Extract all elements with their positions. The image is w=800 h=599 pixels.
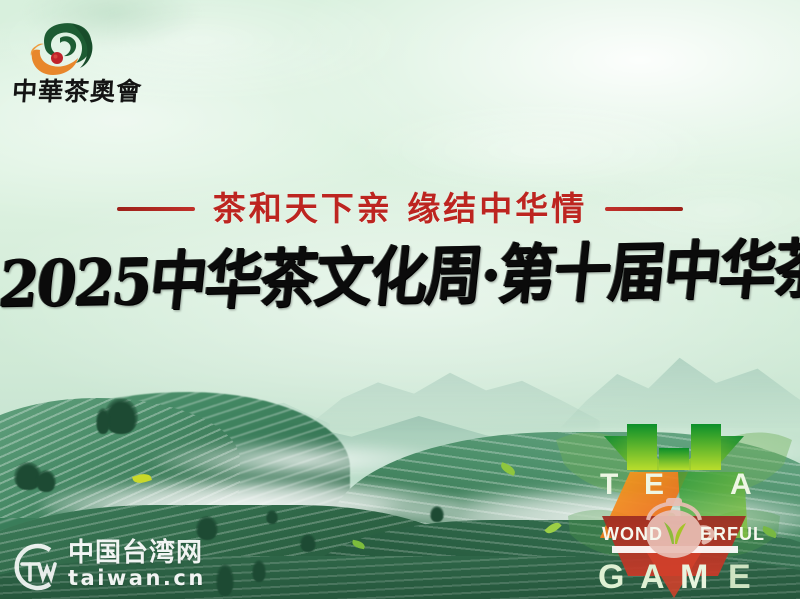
main-title: 2025中华茶文化周·第十届中华茶奥会 [0, 246, 800, 306]
event-logo-letter-t: T [600, 468, 620, 501]
event-logo-letter-e: E [644, 468, 666, 501]
event-logo-wond: WOND [602, 524, 663, 544]
tea-leaf-swirl-icon [26, 18, 104, 80]
tree-clump [300, 534, 316, 552]
tree-clump [96, 408, 110, 434]
watermark-site-name: 中国台湾网 [68, 540, 203, 566]
slogan-row: 茶和天下亲 缘结中华情 [0, 192, 800, 225]
event-logo-letter-a: A [730, 468, 754, 501]
ctw-logo-icon [8, 540, 64, 594]
event-logo: T E A WOND ERFUL G A M E [548, 398, 800, 599]
organizer-logo-label: 中華茶奧會 [11, 80, 135, 105]
tree-clump [36, 470, 56, 492]
tree-clump [266, 510, 278, 524]
main-title-text: 2025中华茶文化周·第十届中华茶奥会 [0, 233, 800, 318]
organizer-logo: 中華茶奧會 [8, 18, 138, 118]
event-logo-letter-a2: A [640, 558, 669, 596]
event-logo-letter-g: G [598, 558, 628, 596]
watermark: 中国台湾网 taiwan.cn [8, 538, 258, 596]
slogan-rule-right-icon [605, 207, 683, 211]
tree-clump [430, 506, 444, 522]
slogan-text: 茶和天下亲 缘结中华情 [213, 192, 588, 225]
tree-clump [196, 516, 218, 540]
event-logo-letter-e2: E [728, 558, 755, 596]
slogan-rule-left-icon [117, 207, 195, 211]
watermark-url: taiwan.cn [68, 568, 206, 589]
event-logo-erful: ERFUL [700, 524, 765, 544]
event-logo-letter-m: M [680, 558, 712, 596]
poster-canvas: 中華茶奧會 茶和天下亲 缘结中华情 2025中华茶文化周·第十届中华茶奥会 [0, 0, 800, 599]
